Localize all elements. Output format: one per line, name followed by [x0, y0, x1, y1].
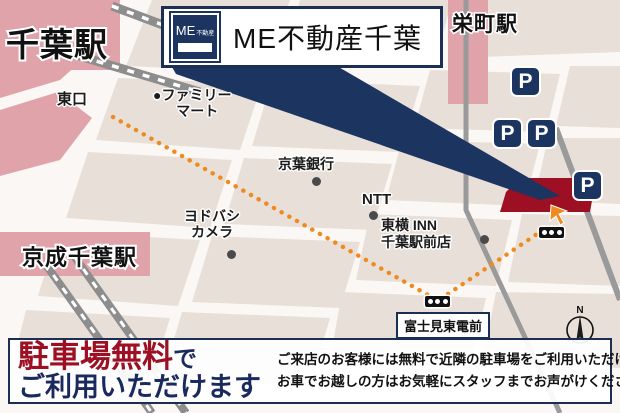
- yodobashi-line1: ヨドバシ: [184, 208, 240, 224]
- access-map: 千葉駅 京成千葉駅 栄町駅 東口 ●ファミリー マート 京葉銀行 NTT ヨドバ…: [0, 0, 620, 413]
- signal-lamp: [557, 230, 562, 235]
- poi-label-keiyo-bank: 京葉銀行: [278, 157, 334, 173]
- banner-headline-highlight: 駐車場無料: [18, 339, 173, 374]
- signal-lamp: [428, 299, 433, 304]
- toyoko-line1: 東横 INN: [381, 217, 437, 233]
- poi-dot-yodobashi: [227, 250, 236, 259]
- station-label-sakaemachi: 栄町駅: [452, 14, 482, 36]
- traffic-light-icon-fujimi: [425, 296, 450, 307]
- poi-label-toyoko-inn: 東横 INN 千葉駅前店: [381, 217, 451, 250]
- parking-icon-4: P: [574, 172, 601, 199]
- familymart-line1: ファミリー: [161, 87, 231, 103]
- signal-lamp: [435, 299, 440, 304]
- signal-lamp: [549, 230, 554, 235]
- parking-free-banner: 駐車場無料で ご利用いただけます ご来店のお客様には無料で近隣の駐車場をご利用い…: [8, 338, 612, 404]
- station-label-chiba: 千葉駅: [6, 18, 108, 66]
- parking-icon-3: P: [528, 120, 555, 147]
- logo-mark-me-text: ME: [176, 23, 196, 38]
- parking-icon-1: P: [512, 68, 539, 95]
- banner-detail-text: ご来店のお客様には無料で近隣の駐車場をご利用いただけます。 お車でお越しの方はお…: [261, 349, 620, 394]
- poi-label-yodobashi-camera: ヨドバシ カメラ: [184, 209, 240, 240]
- parking-icon-2: P: [494, 120, 521, 147]
- compass-north-label: N: [576, 305, 583, 316]
- signal-lamp: [542, 230, 547, 235]
- boxed-label-fujimi-higashi-den-mae: 富士見東電前: [396, 312, 490, 339]
- signal-lamp: [443, 299, 448, 304]
- company-name-title: ME不動産千葉: [233, 17, 422, 57]
- poi-label-familymart: ●ファミリー マート: [153, 88, 231, 119]
- poi-dot-toyoko-inn: [480, 235, 489, 244]
- poi-label-higashiguchi: 東口: [57, 92, 87, 109]
- poi-dot-ntt: [369, 211, 378, 220]
- banner-detail-line1: ご来店のお客様には無料で近隣の駐車場をご利用いただけます。: [277, 349, 620, 371]
- familymart-line2: マート: [153, 104, 231, 120]
- poi-label-ntt: NTT: [362, 192, 391, 209]
- toyoko-line2: 千葉駅前店: [381, 234, 451, 250]
- me-logo-mark: ME 不動産: [171, 13, 219, 61]
- destination-arrow-marker: [548, 204, 570, 226]
- company-logo-banner: ME 不動産 ME不動産千葉: [161, 6, 443, 68]
- banner-headline-tail: で: [173, 346, 197, 373]
- logo-mark-bar: [178, 43, 212, 52]
- logo-mark-sub-text: 不動産: [196, 28, 214, 37]
- station-label-keisei-chiba: 京成千葉駅: [22, 240, 137, 272]
- poi-dot-keiyo-bank: [312, 177, 321, 186]
- traffic-light-icon-destination: [539, 227, 564, 238]
- banner-headline-line2: ご利用いただけます: [18, 374, 261, 401]
- yodobashi-line2: カメラ: [191, 224, 233, 240]
- banner-headline: 駐車場無料で ご利用いただけます: [10, 341, 261, 401]
- banner-detail-line2: お車でお越しの方はお気軽にスタッフまでお声がけください。: [277, 371, 620, 393]
